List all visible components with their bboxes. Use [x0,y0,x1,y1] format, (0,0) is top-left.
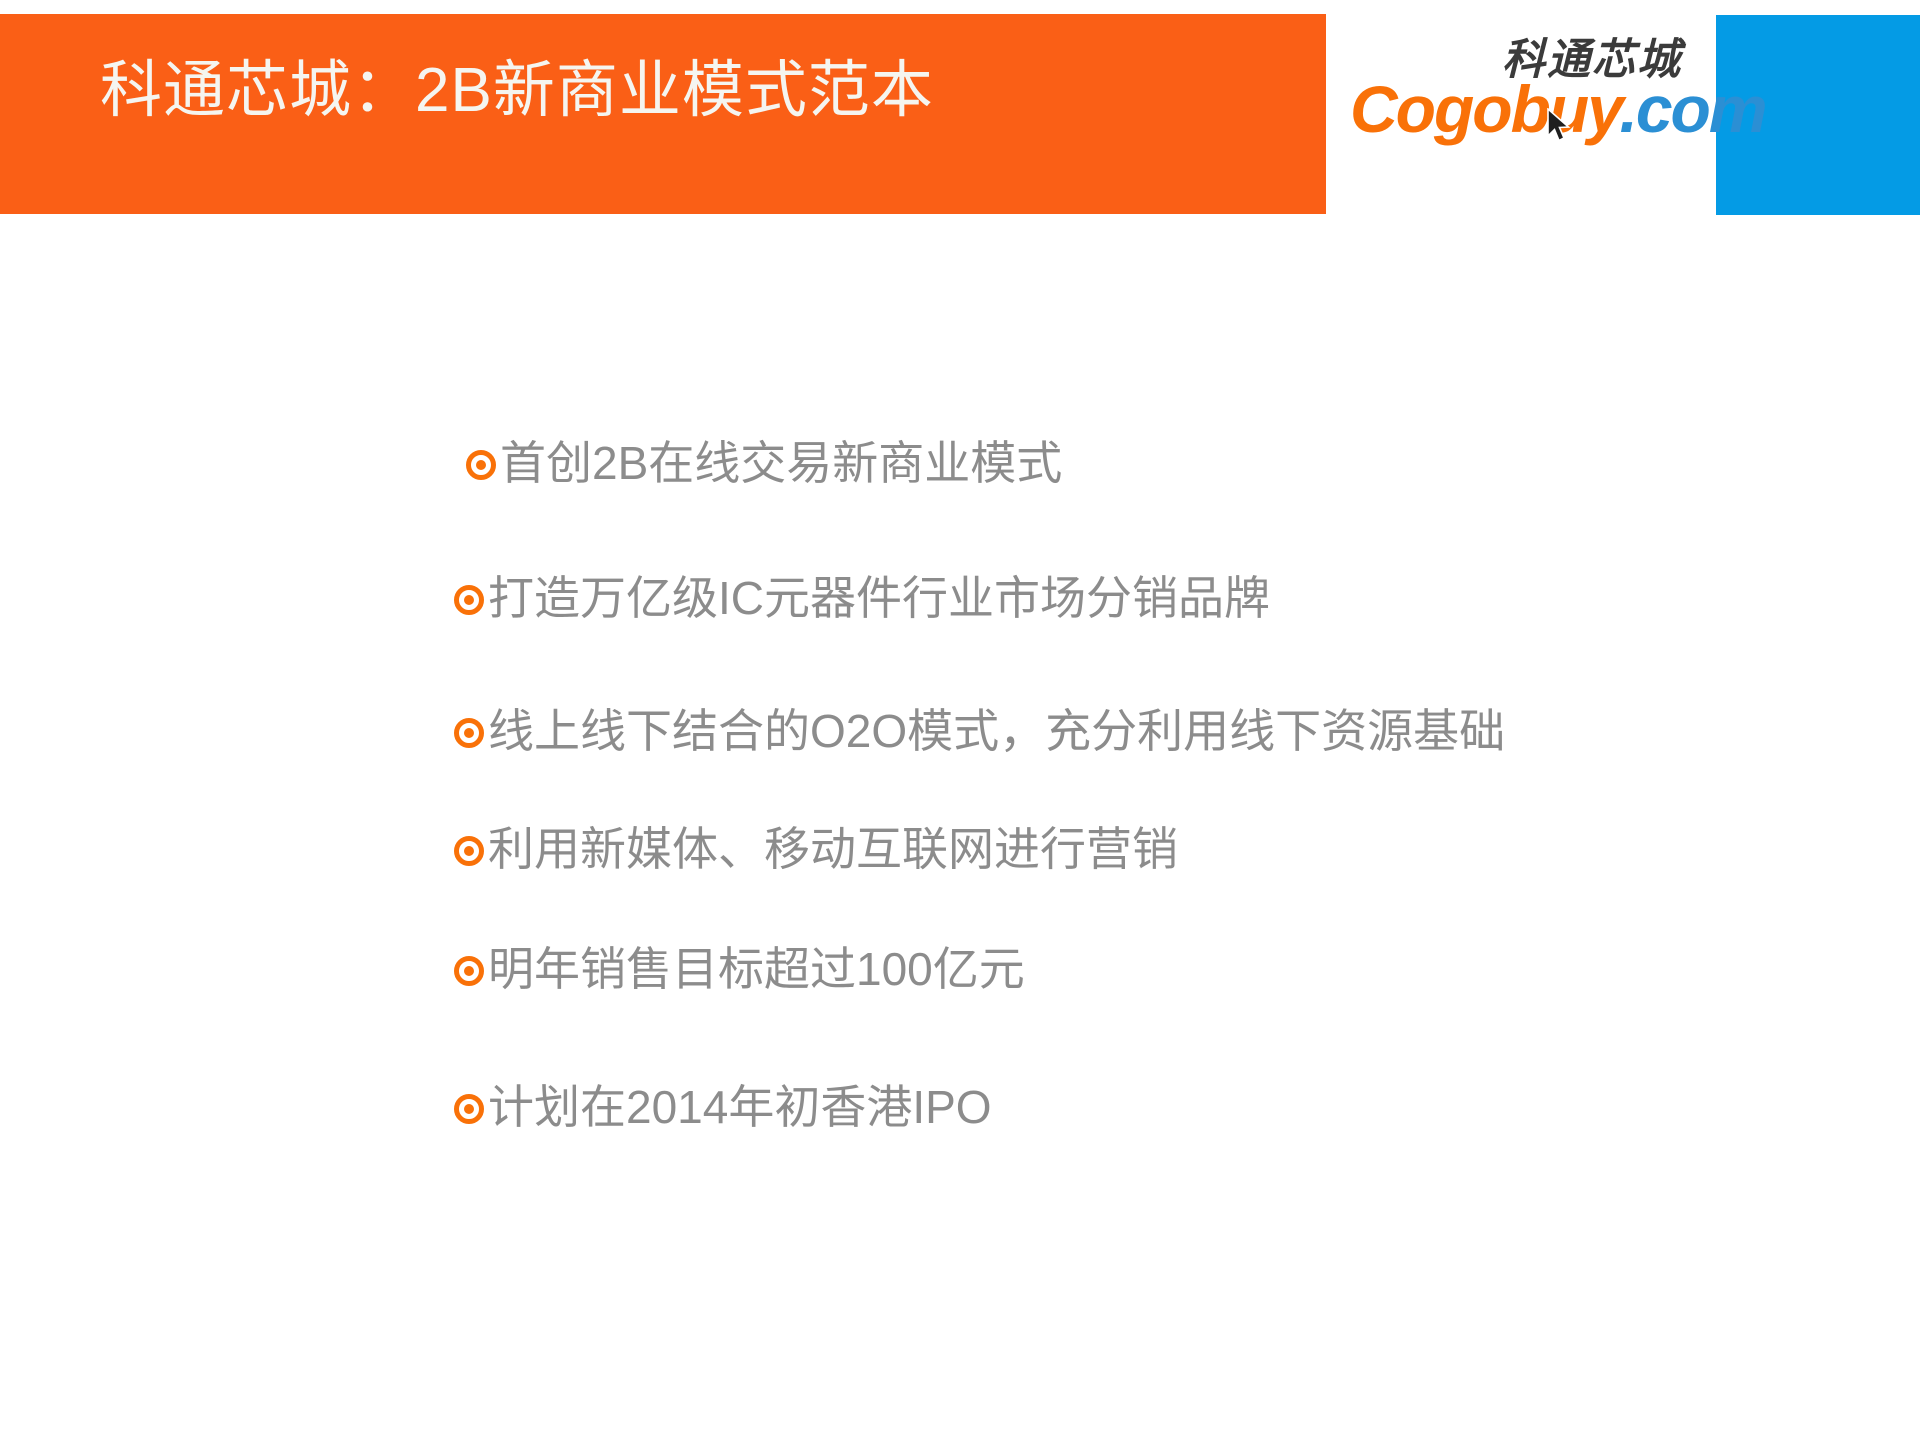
list-item-label: 利用新媒体、移动互联网进行营销 [488,820,1178,878]
list-item: 首创2B在线交易新商业模式 [466,434,1062,492]
list-item: 打造万亿级IC元器件行业市场分销品牌 [454,569,1270,627]
list-item-label: 首创2B在线交易新商业模式 [500,434,1062,492]
list-item: 明年销售目标超过100亿元 [454,940,1025,998]
fisheye-bullet-icon [454,836,484,866]
fisheye-bullet-icon [454,956,484,986]
list-item-label: 计划在2014年初香港IPO [488,1078,992,1136]
fisheye-bullet-icon [454,1094,484,1124]
list-item-label: 线上线下结合的O2O模式，充分利用线下资源基础 [488,702,1505,760]
fisheye-bullet-icon [454,585,484,615]
list-item: 利用新媒体、移动互联网进行营销 [454,820,1178,878]
list-item-label: 打造万亿级IC元器件行业市场分销品牌 [488,569,1270,627]
list-item: 计划在2014年初香港IPO [454,1078,992,1136]
fisheye-bullet-icon [466,450,496,480]
list-item: 线上线下结合的O2O模式，充分利用线下资源基础 [454,702,1505,760]
fisheye-bullet-icon [454,718,484,748]
bullet-list: 首创2B在线交易新商业模式 打造万亿级IC元器件行业市场分销品牌 线上线下结合的… [0,0,1920,1440]
list-item-label: 明年销售目标超过100亿元 [488,940,1025,998]
